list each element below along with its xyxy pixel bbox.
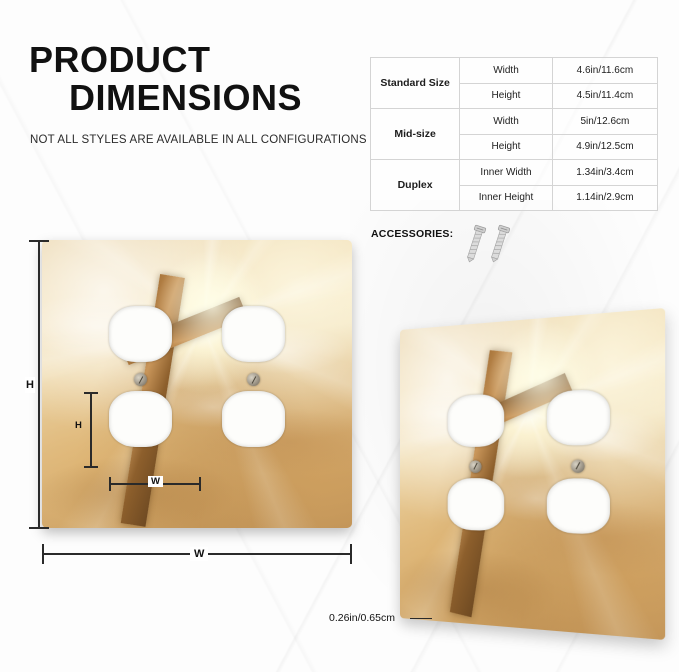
plate-height-line bbox=[38, 240, 40, 528]
clouds-angled bbox=[400, 308, 665, 640]
dim-value-standard-height: 4.5in/11.4cm bbox=[552, 83, 657, 109]
screw-hole-angled-right bbox=[571, 460, 585, 473]
table-row: Duplex Inner Width 1.34in/3.4cm bbox=[371, 160, 658, 186]
outlet-width-cap-right bbox=[199, 477, 201, 491]
dim-name-duplex-inner-width: Inner Width bbox=[460, 160, 553, 186]
plate-width-label: W bbox=[190, 547, 208, 561]
wall-plate-angled-face bbox=[400, 308, 665, 640]
wall-plate-angled-view bbox=[400, 330, 648, 618]
screw-hole-right bbox=[247, 373, 260, 386]
outlet-height-cap-top bbox=[84, 392, 98, 394]
screw-hole-angled-left bbox=[469, 460, 481, 473]
row-label-midsize: Mid-size bbox=[371, 109, 460, 160]
wall-plate-front-view: H W bbox=[42, 240, 352, 528]
outlet-cutout-bottom-right bbox=[222, 391, 285, 447]
outlet-cutout-top-right bbox=[222, 306, 285, 362]
thickness-label: 0.26in/0.65cm bbox=[329, 612, 395, 624]
outlet-width-cap-left bbox=[109, 477, 111, 491]
screw-hole-left bbox=[134, 373, 147, 386]
outlet-width-label: W bbox=[148, 476, 163, 487]
outlet-cutout-angled-bottom-left bbox=[448, 478, 505, 531]
dim-value-midsize-width: 5in/12.6cm bbox=[552, 109, 657, 135]
thickness-leader-line bbox=[410, 618, 432, 619]
outlet-cutout-angled-top-right bbox=[547, 389, 610, 446]
dim-value-duplex-inner-height: 1.14in/2.9cm bbox=[552, 185, 657, 211]
plate-width-cap-right bbox=[350, 544, 352, 564]
dimensions-table: Standard Size Width 4.6in/11.6cm Height … bbox=[370, 57, 658, 211]
headline-line-2: DIMENSIONS bbox=[69, 78, 379, 118]
dim-value-duplex-inner-width: 1.34in/3.4cm bbox=[552, 160, 657, 186]
plate-height-cap-bottom bbox=[29, 527, 49, 529]
headline-subtitle: NOT ALL STYLES ARE AVAILABLE IN ALL CONF… bbox=[30, 134, 367, 146]
table-row: Standard Size Width 4.6in/11.6cm bbox=[371, 58, 658, 84]
dim-name-midsize-width: Width bbox=[460, 109, 553, 135]
dim-name-midsize-height: Height bbox=[460, 134, 553, 160]
plate-width-cap-left bbox=[42, 544, 44, 564]
plate-height-label: H bbox=[25, 377, 35, 393]
outlet-cutout-bottom-left bbox=[109, 391, 172, 447]
row-label-standard: Standard Size bbox=[371, 58, 460, 109]
dim-name-standard-height: Height bbox=[460, 83, 553, 109]
outlet-cutout-angled-top-left bbox=[448, 393, 505, 447]
outlet-height-line bbox=[90, 392, 92, 467]
dim-name-duplex-inner-height: Inner Height bbox=[460, 185, 553, 211]
screw-icon bbox=[462, 222, 522, 264]
outlet-cutout-top-left bbox=[109, 306, 172, 362]
outlet-cutout-angled-bottom-right bbox=[547, 478, 610, 534]
page-title: PRODUCT DIMENSIONS bbox=[29, 42, 379, 118]
outlet-height-label: H bbox=[75, 420, 82, 431]
outlet-height-cap-bottom bbox=[84, 466, 98, 468]
table-row: Mid-size Width 5in/12.6cm bbox=[371, 109, 658, 135]
dim-value-standard-width: 4.6in/11.6cm bbox=[552, 58, 657, 84]
headline-line-1: PRODUCT bbox=[29, 42, 379, 78]
dim-value-midsize-height: 4.9in/12.5cm bbox=[552, 134, 657, 160]
dim-name-standard-width: Width bbox=[460, 58, 553, 84]
clouds bbox=[42, 240, 352, 528]
plate-height-cap-top bbox=[29, 240, 49, 242]
accessories-label: ACCESSORIES: bbox=[371, 228, 453, 240]
row-label-duplex: Duplex bbox=[371, 160, 460, 211]
